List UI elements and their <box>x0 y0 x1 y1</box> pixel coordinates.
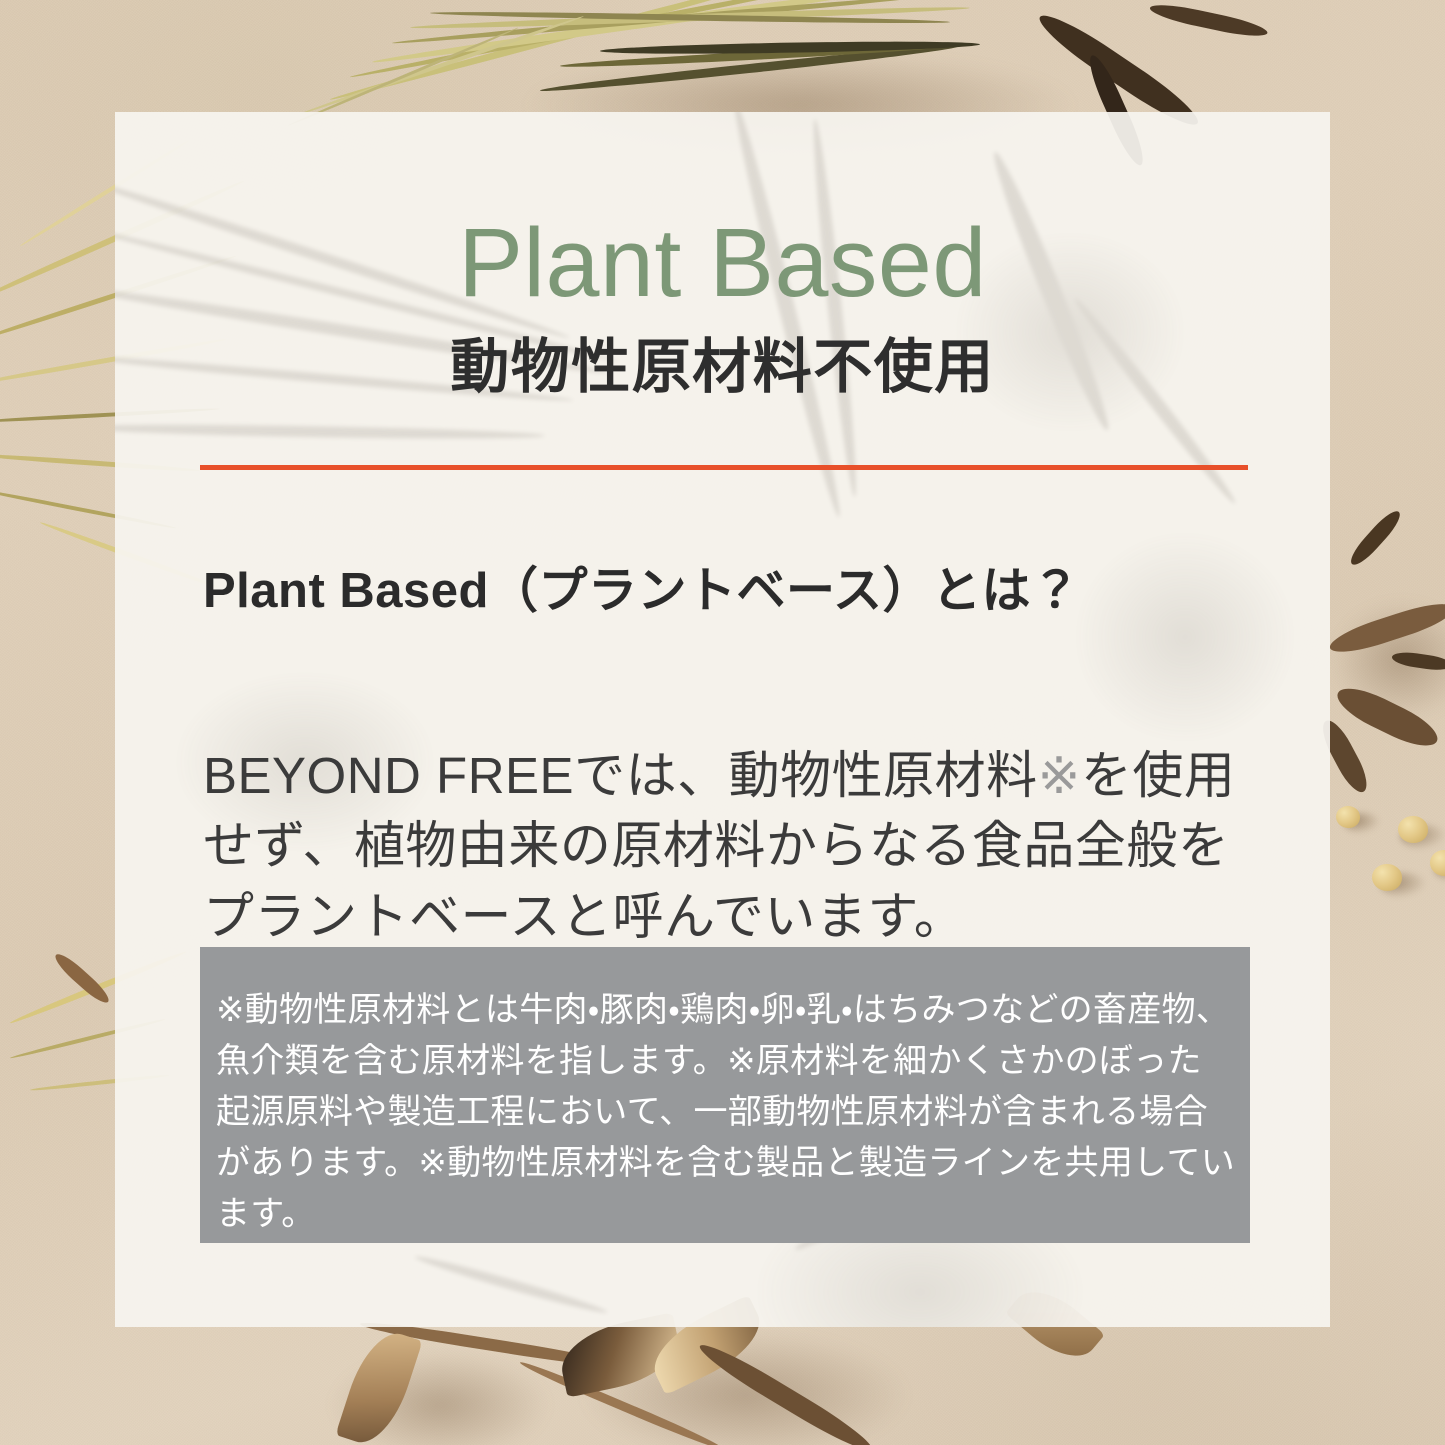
body-text-before-footnote-mark: BEYOND FREEでは、動物性原材料 <box>203 747 1038 804</box>
page-title-english: Plant Based <box>115 214 1330 311</box>
footnote-box: ※動物性原材料とは牛肉・豚肉・鶏肉・卵・乳・はちみつなどの畜産物、魚介類を含む原… <box>200 947 1250 1243</box>
section-heading: Plant Based（プラントベース）とは？ <box>203 564 1081 619</box>
content-card: Plant Based 動物性原材料不使用 Plant Based（プラントベー… <box>115 112 1330 1327</box>
section-divider <box>200 465 1248 470</box>
footnote-text: ※動物性原材料とは牛肉・豚肉・鶏肉・卵・乳・はちみつなどの畜産物、魚介類を含む原… <box>216 985 1236 1240</box>
body-paragraph: BEYOND FREEでは、動物性原材料※を使用せず、植物由来の原材料からなる食… <box>203 741 1263 952</box>
plant-based-infographic: Plant Based 動物性原材料不使用 Plant Based（プラントベー… <box>0 0 1445 1445</box>
page-title-japanese: 動物性原材料不使用 <box>115 338 1330 397</box>
footnote-mark-icon: ※ <box>1038 747 1081 804</box>
